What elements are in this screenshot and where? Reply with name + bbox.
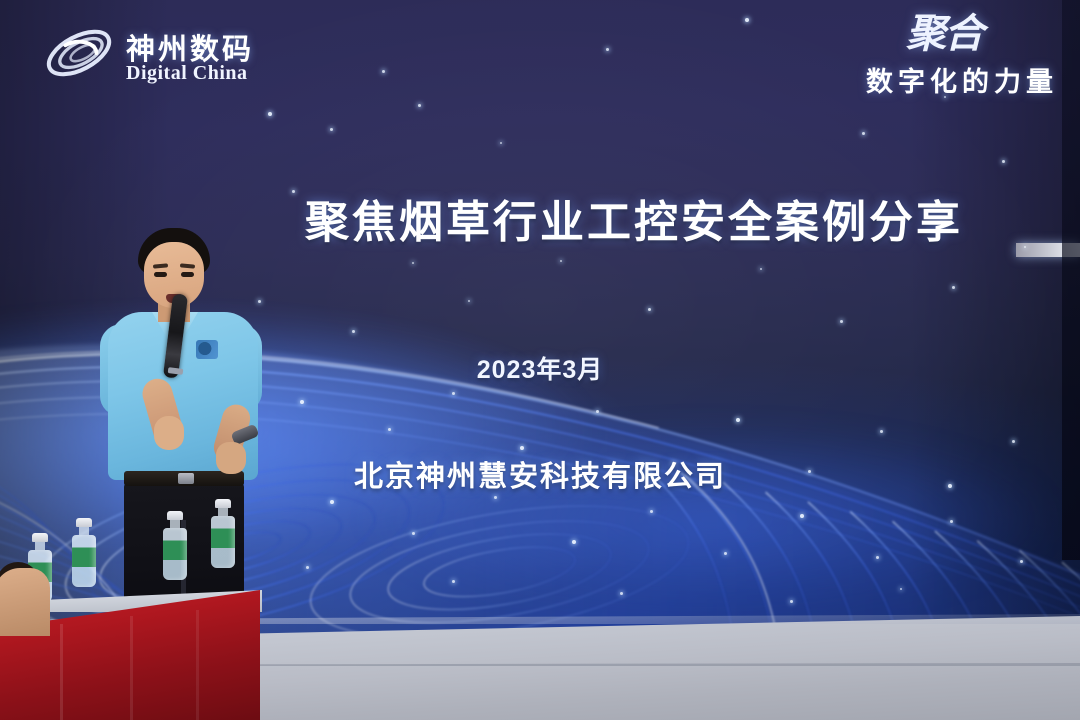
bottle-neck	[218, 508, 228, 516]
bottle-body	[163, 528, 187, 580]
shirt-chest-logo	[196, 340, 218, 359]
bottle-body	[72, 535, 96, 587]
event-logo: 聚合 数字化的力量	[788, 14, 1058, 110]
bottle-neck	[35, 542, 45, 550]
eye-left	[154, 272, 167, 277]
bottle-neck	[170, 520, 180, 528]
water-bottle	[211, 499, 235, 568]
presenter-hand-left	[154, 416, 184, 450]
bottle-body	[211, 516, 235, 568]
event-tagline: 数字化的力量	[788, 60, 1058, 99]
water-bottle	[72, 518, 96, 587]
tablecloth-fold	[130, 616, 133, 720]
bottle-cap	[76, 518, 92, 527]
presenter	[92, 228, 282, 620]
conference-stage-photo: 神州数码 Digital China 聚合 数字化的力量 聚焦烟草行业工控安全案…	[0, 0, 1080, 720]
right-wall-shadow	[1062, 0, 1080, 560]
eye-right	[181, 272, 194, 277]
presenter-hand-right	[216, 442, 246, 474]
bottle-neck	[79, 527, 89, 535]
bottle-cap	[167, 511, 183, 520]
event-calligraphy: 聚合	[788, 14, 1058, 54]
logo-name-en: Digital China	[126, 62, 248, 85]
seated-attendee	[0, 568, 50, 636]
bottle-cap	[215, 499, 231, 508]
digital-china-logo: 神州数码 Digital China	[40, 18, 280, 90]
tablecloth-fold	[196, 610, 199, 720]
water-bottle	[163, 511, 187, 580]
bottle-cap	[32, 533, 48, 542]
tablecloth-fold	[60, 624, 63, 720]
belt-buckle	[178, 473, 194, 484]
slide-title: 聚焦烟草行业工控安全案例分享	[305, 186, 1005, 250]
swirl-spiral-mark	[40, 22, 118, 84]
